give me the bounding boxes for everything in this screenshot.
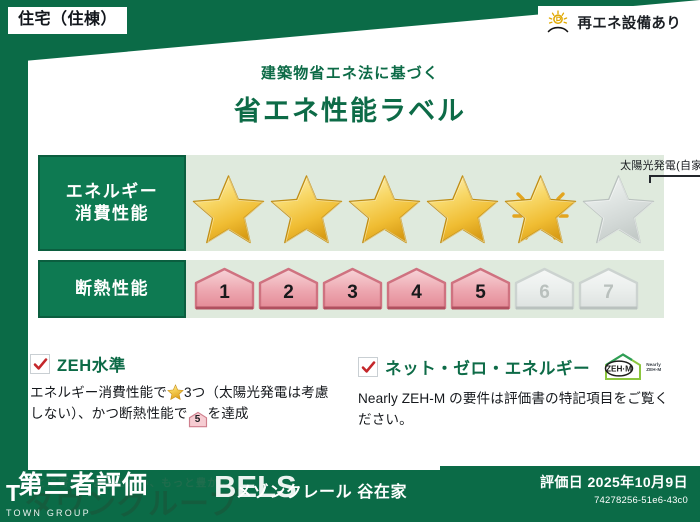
ratings-container: エネルギー 消費性能 太陽光発電(自家消費)分 (38, 155, 664, 327)
solar-annotation: 太陽光発電(自家消費)分 (590, 157, 700, 183)
star-filled (268, 172, 345, 246)
solar-annotation-text: 太陽光発電(自家消費)分 (590, 157, 700, 173)
star-empty (580, 172, 657, 246)
energy-label-line1: エネルギー (66, 181, 159, 203)
watermark-third-party: 第三者評価 (18, 473, 148, 498)
insulation-grade-number: 1 (219, 283, 230, 311)
zeh-desc-part3: を達成 (208, 406, 249, 421)
insulation-grade-number: 3 (347, 283, 358, 311)
star-filled (190, 172, 267, 246)
footer: ひとに寄り、まちとあい、もっと豊かに。 タウングループ BELS 第三者評価 T… (0, 464, 700, 522)
insulation-grade-active: 1 (194, 267, 255, 311)
zeh-title: ZEH水準 (57, 352, 126, 376)
zeh-m-sub-line2: ZEH-M (646, 367, 661, 372)
zeh-m-sub-line1: Nearly (646, 362, 661, 367)
renewable-energy-badge: 再エネ設備あり (538, 6, 690, 39)
criteria-section: ZEH水準 エネルギー消費性能で3つ（太陽光発電は考慮しない）、かつ断熱性能で5… (30, 352, 674, 430)
renewable-badge-label: 再エネ設備あり (577, 12, 681, 33)
star-filled (502, 172, 579, 246)
sun-solar-icon (545, 10, 571, 34)
zeh-criterion-block: ZEH水準 エネルギー消費性能で3つ（太陽光発電は考慮しない）、かつ断熱性能で5… (30, 352, 352, 430)
zeh-heading: ZEH水準 (30, 352, 340, 376)
zeh-m-logo-subtext: Nearly ZEH-M (646, 362, 661, 373)
insulation-grade-number: 7 (603, 283, 614, 311)
energy-performance-label: 住宅（住棟） 再エネ設備あり 建築物省エネ法に基づく 省 (0, 0, 700, 522)
net-zero-title: ネット・ゼロ・エネルギー (385, 355, 590, 379)
insulation-row-label: 断熱性能 (38, 260, 186, 318)
energy-row-body: 太陽光発電(自家消費)分 (186, 155, 664, 251)
insulation-grade-number: 5 (475, 283, 486, 311)
insulation-grade-inactive: 6 (514, 267, 575, 311)
label-subtitle: 建築物省エネ法に基づく (0, 62, 700, 83)
evaluation-info: 評価日 2025年10月9日 74278256-51e6-43c0 (540, 472, 688, 506)
zeh-checkbox (30, 354, 50, 374)
insulation-label-text: 断熱性能 (75, 278, 149, 300)
house-grade-value: 5 (188, 411, 208, 428)
net-zero-heading: ネット・ゼロ・エネルギー ZEH·M Nearly ZEH-M (358, 352, 674, 382)
check-icon (361, 360, 376, 375)
insulation-grade-number: 6 (539, 283, 550, 311)
insulation-grade-number: 2 (283, 283, 294, 311)
zeh-desc-part1: エネルギー消費性能で (30, 385, 167, 400)
star-rating (190, 172, 657, 246)
net-zero-description: Nearly ZEH-M の要件は評価書の特記項目をご覧ください。 (358, 389, 674, 430)
energy-label-line2: 消費性能 (75, 203, 149, 225)
watermark-bels: BELS (214, 471, 297, 502)
evaluation-date: 評価日 2025年10月9日 (540, 472, 688, 492)
insulation-grade-scale: 1 2 3 (194, 267, 639, 311)
town-group-brand-text: TOWN GROUP (6, 508, 126, 518)
title-block: 建築物省エネ法に基づく 省エネ性能ラベル (0, 62, 700, 128)
footer-white-band (28, 456, 440, 470)
evaluation-id: 74278256-51e6-43c0 (540, 495, 688, 506)
insulation-grade-inactive: 7 (578, 267, 639, 311)
net-zero-criterion-block: ネット・ゼロ・エネルギー ZEH·M Nearly ZEH-M Nearly Z… (352, 352, 674, 430)
star-icon (167, 384, 184, 400)
document-type-tag: 住宅（住棟） (8, 7, 127, 34)
insulation-row-body: 1 2 3 (186, 260, 664, 318)
svg-text:ZEH·M: ZEH·M (606, 365, 632, 374)
insulation-grade-active: 3 (322, 267, 383, 311)
insulation-grade-active: 5 (450, 267, 511, 311)
insulation-grade-number: 4 (411, 283, 422, 311)
check-icon (33, 357, 48, 372)
insulation-grade-active: 2 (258, 267, 319, 311)
house-grade-icon: 5 (188, 411, 208, 428)
net-zero-checkbox (358, 357, 378, 377)
star-filled (424, 172, 501, 246)
star-filled (346, 172, 423, 246)
zeh-description: エネルギー消費性能で3つ（太陽光発電は考慮しない）、かつ断熱性能で5を達成 (30, 383, 340, 428)
solar-annotation-bracket (649, 175, 700, 183)
insulation-grade-active: 4 (386, 267, 447, 311)
energy-performance-row: エネルギー 消費性能 太陽光発電(自家消費)分 (38, 155, 664, 251)
zeh-m-logo: ZEH·M Nearly ZEH-M (602, 352, 661, 382)
label-main-title: 省エネ性能ラベル (0, 89, 700, 128)
zeh-m-house-icon: ZEH·M (602, 352, 644, 382)
insulation-performance-row: 断熱性能 1 2 (38, 260, 664, 318)
energy-row-label: エネルギー 消費性能 (38, 155, 186, 251)
